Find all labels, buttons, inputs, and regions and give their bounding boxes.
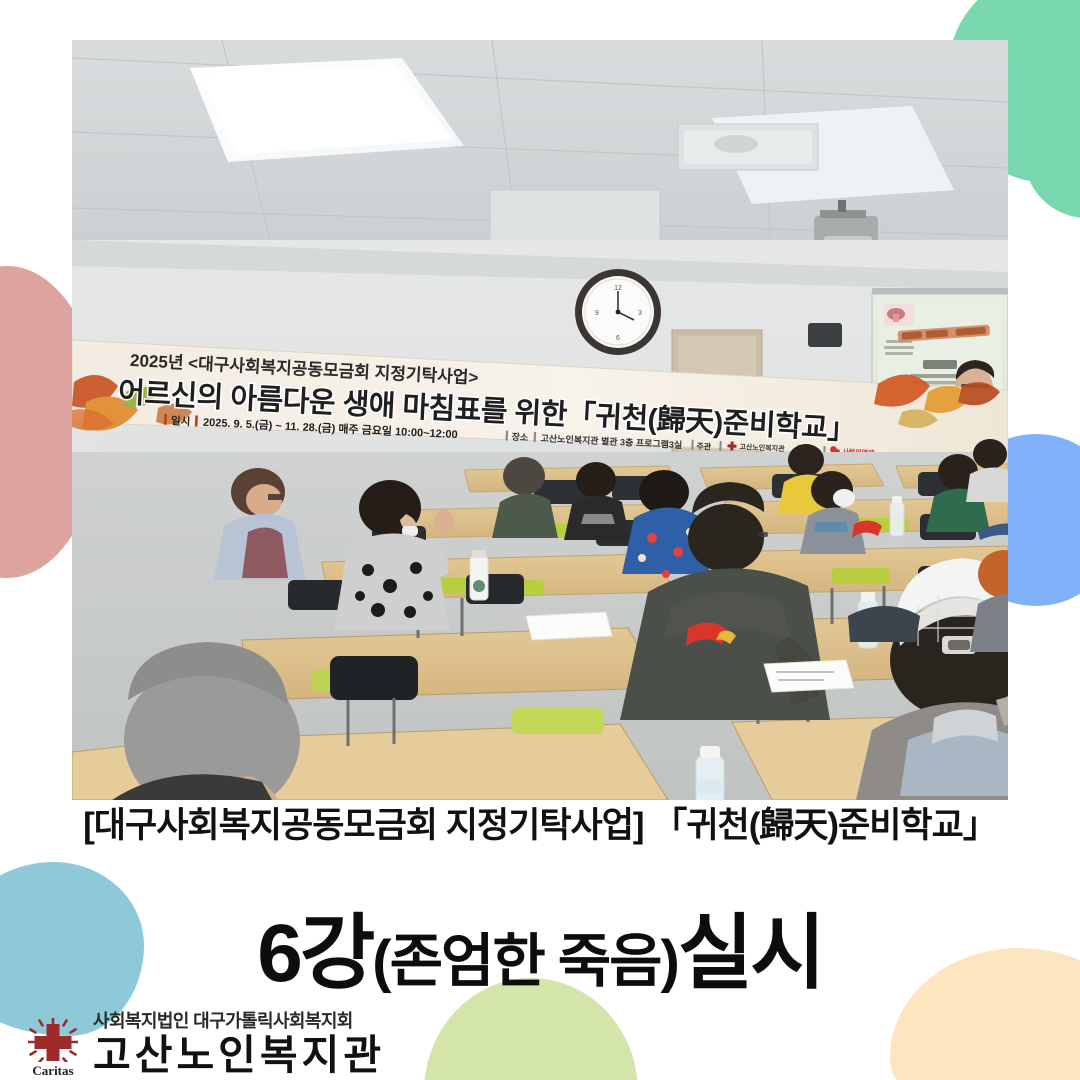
poster-card: 2025년 <대구사회복지공동모금회 지정기탁사업> 어르신의 아름다운 생애 … — [0, 0, 1080, 1080]
poster-headline: 6강(존엄한 죽음)실시 — [0, 886, 1080, 1005]
svg-text:9: 9 — [595, 310, 599, 317]
headline-lecture-number: 6강 — [257, 908, 372, 999]
caritas-logo: Caritas — [22, 1018, 84, 1079]
footer-logo-block: Caritas 사회복지법인 대구가톨릭사회복지회 고산노인복지관 — [22, 1012, 385, 1079]
svg-text:12: 12 — [614, 285, 622, 292]
svg-text:3: 3 — [638, 310, 642, 317]
caritas-cross-icon — [28, 1018, 78, 1062]
svg-text:6: 6 — [616, 335, 620, 342]
caritas-wordmark: Caritas — [32, 1063, 73, 1079]
organization-title: 고산노인복지관 — [93, 1034, 385, 1077]
event-photo: 2025년 <대구사회복지공동모금회 지정기탁사업> 어르신의 아름다운 생애 … — [72, 40, 1008, 800]
svg-text:장소: 장소 — [511, 431, 529, 443]
poster-caption: [대구사회복지공동모금회 지정기탁사업] 「귀천(歸天)준비학교」 — [0, 806, 1080, 846]
svg-text:일시: 일시 — [171, 414, 191, 428]
headline-action: 실시 — [678, 908, 823, 999]
headline-topic: (존엄한 죽음) — [372, 929, 678, 994]
organization-name-block: 사회복지법인 대구가톨릭사회복지회 고산노인복지관 — [93, 1012, 385, 1079]
organization-parent-name: 사회복지법인 대구가톨릭사회복지회 — [93, 1012, 385, 1032]
svg-text:주관: 주관 — [696, 441, 712, 452]
